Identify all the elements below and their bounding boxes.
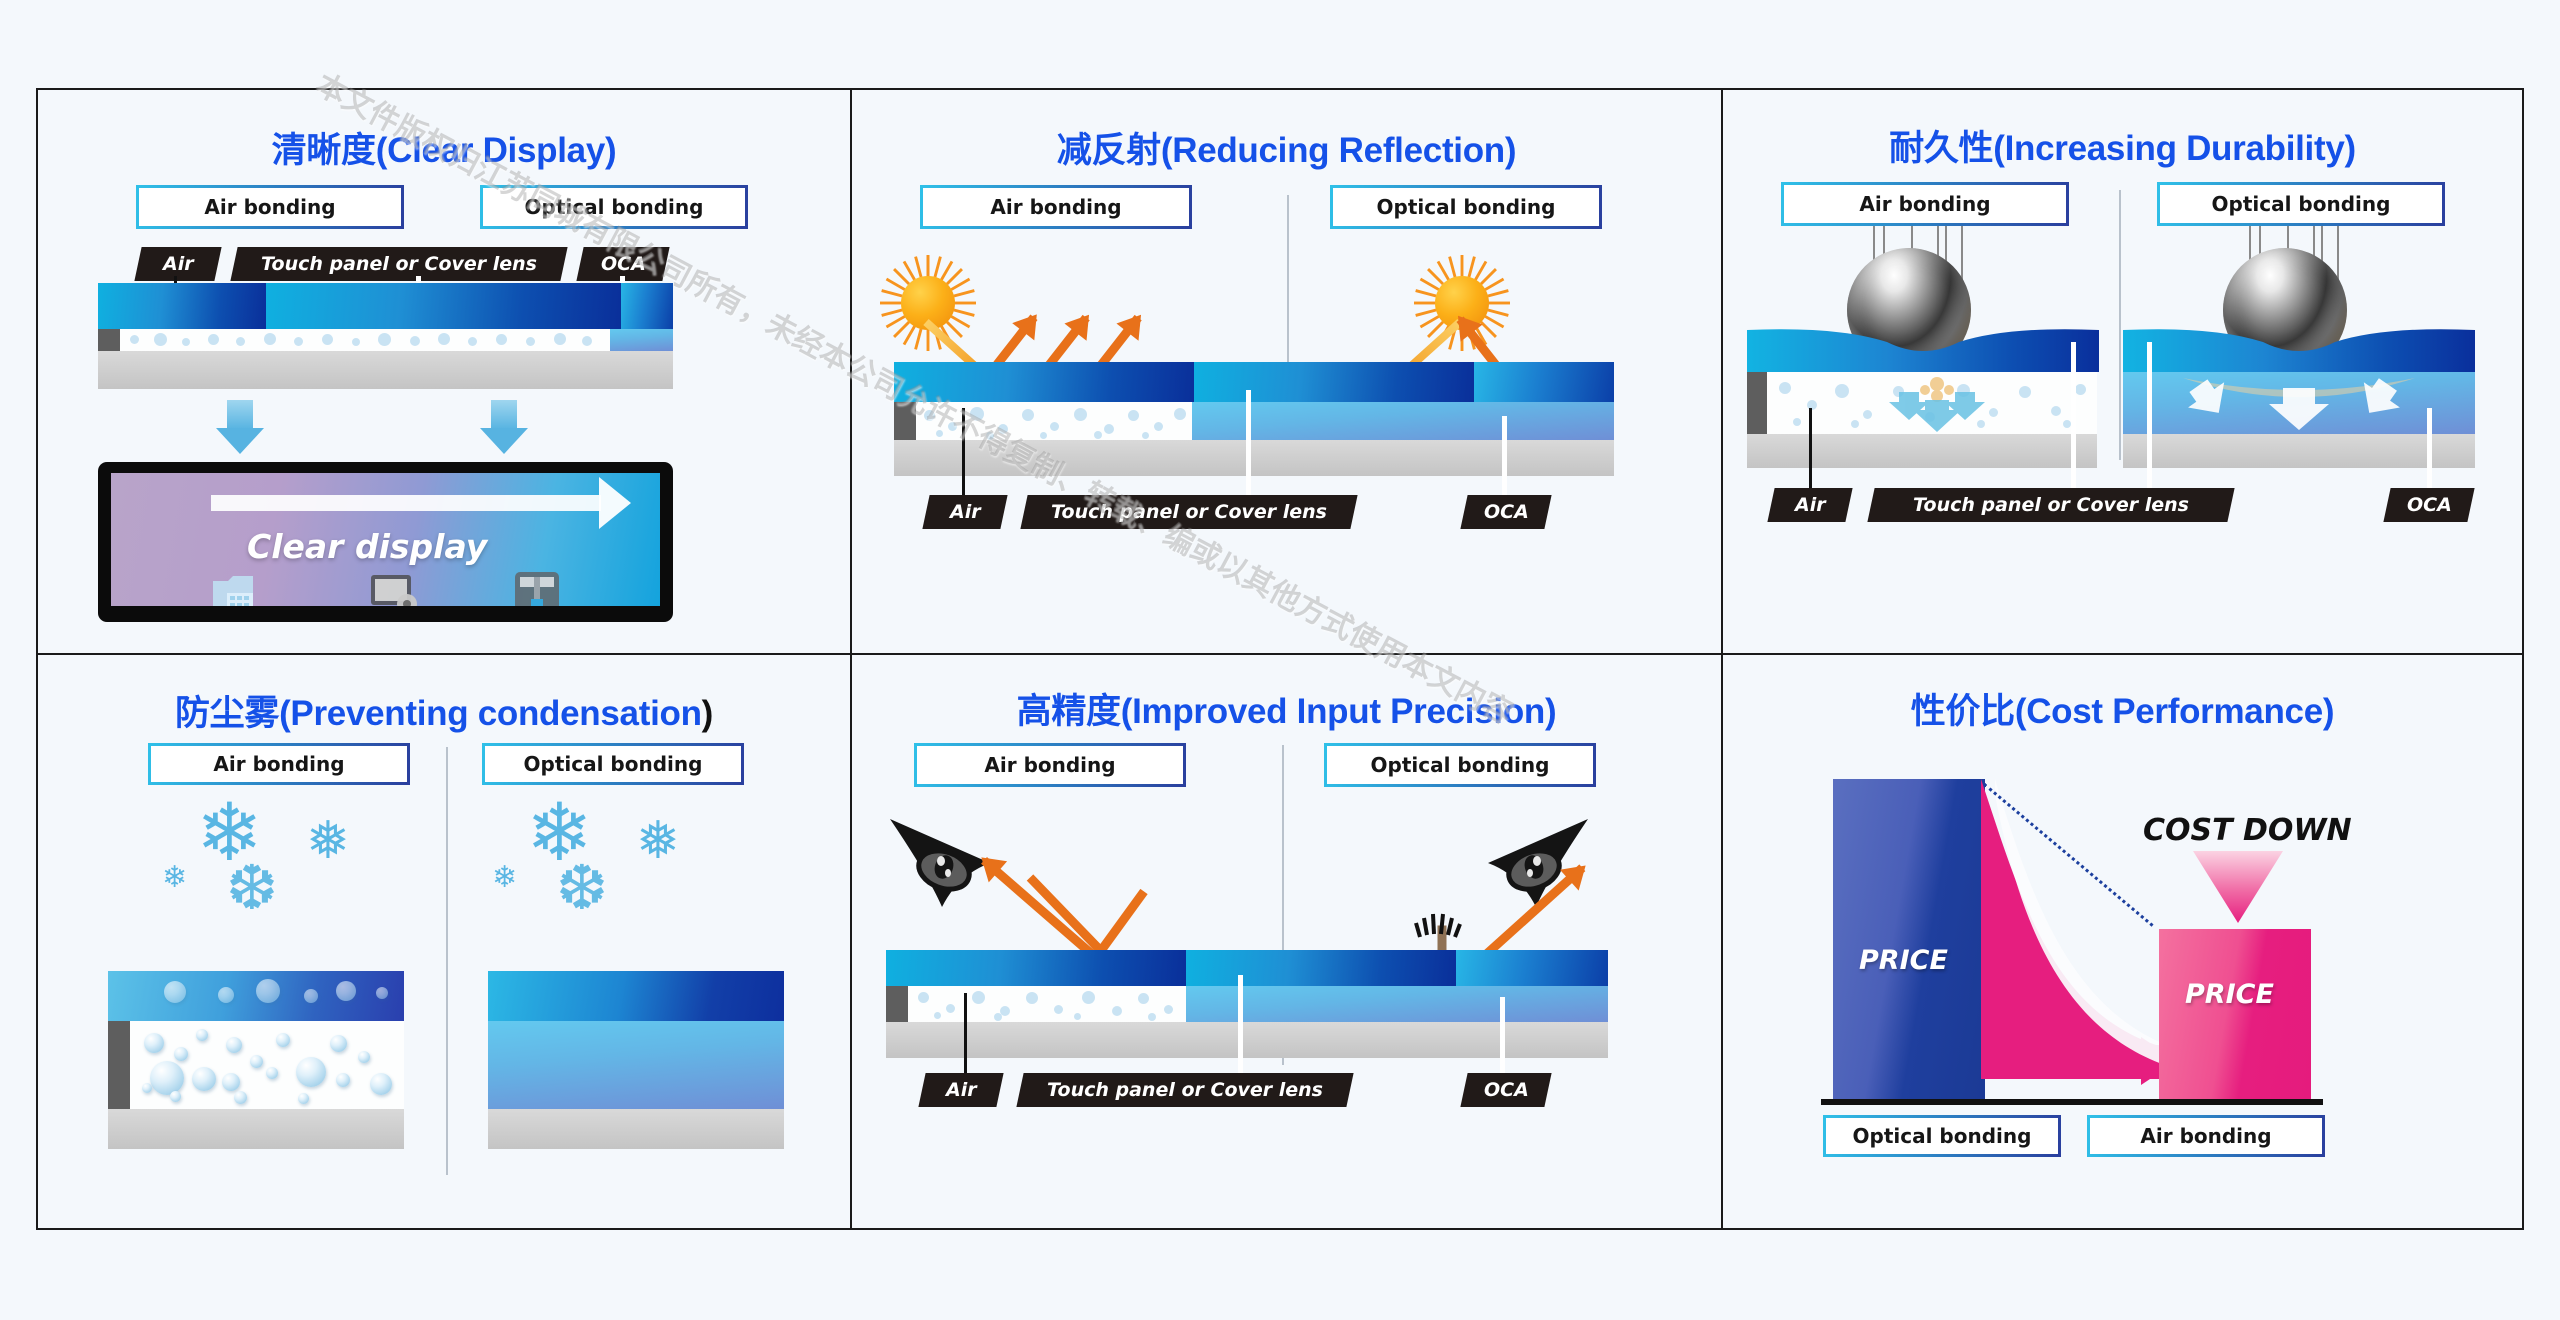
bar-air-bonding <box>2159 929 2311 1099</box>
cover-lens-layer-mid <box>1194 362 1474 402</box>
air-gap-layer <box>908 986 1186 1022</box>
oca-layer <box>488 1021 784 1109</box>
tag-text: OCA <box>1484 501 1529 523</box>
bezel-left <box>1747 372 1767 434</box>
oca-layer <box>1192 402 1614 440</box>
snowflake-icon: ❄ <box>492 863 517 893</box>
panel-title-clear-display: 清晰度(Clear Display) <box>38 122 850 173</box>
tag-text: Touch panel or Cover lens <box>1047 1079 1323 1101</box>
tag-text: Air <box>950 501 981 523</box>
cover-lens-layer-mid <box>1186 950 1456 986</box>
panel-title-cn: 防尘雾 <box>175 694 279 734</box>
panel-increasing-durability: 耐久性(Increasing Durability) Air bonding O… <box>1723 90 2522 655</box>
label-air-bonding: Air bonding <box>136 185 404 229</box>
panel-title-cn: 清晰度 <box>272 131 376 171</box>
cover-lens-layer-mid <box>266 283 621 329</box>
snowflake-icon: ❆ <box>226 857 278 919</box>
oca-layer <box>610 329 673 351</box>
leader-line-oca <box>2427 408 2432 494</box>
label-text: Optical bonding <box>1371 753 1550 777</box>
lcd-layer <box>1747 434 2097 468</box>
label-optical-bonding: Optical bonding <box>1324 743 1596 787</box>
panel-title-cn: 减反射 <box>1057 131 1161 171</box>
snowflake-icon: ❅ <box>636 815 680 867</box>
snowflake-icon: ❅ <box>306 815 350 867</box>
feature-grid: 清晰度(Clear Display) Air bonding Optical b… <box>36 88 2524 1230</box>
snowflake-icon: ❆ <box>556 857 608 919</box>
bar-label-optical: PRICE <box>1859 945 1948 976</box>
label-air-bonding: Air bonding <box>920 185 1192 229</box>
bezel-left <box>886 986 908 1022</box>
down-arrow-right <box>474 400 534 456</box>
label-text: Optical bonding <box>525 195 704 219</box>
air-gap-layer <box>916 402 1192 440</box>
air-gap-layer <box>120 329 610 351</box>
tag-oca: OCA <box>2383 488 2474 522</box>
label-air-bonding: Air bonding <box>1781 182 2069 226</box>
panel-title-cost-performance: 性价比(Cost Performance) <box>1723 683 2522 734</box>
bezel-left <box>98 329 120 351</box>
cover-lens-layer-left <box>108 971 404 1021</box>
leader-line-touch-right <box>2147 342 2152 494</box>
panel-improved-input-precision: 高精度(Improved Input Precision) Air bondin… <box>852 655 1723 1230</box>
tag-text: Touch panel or Cover lens <box>261 253 537 275</box>
panel-title-en: (Cost Performance) <box>2015 692 2334 731</box>
cost-down-arrow-icon <box>2193 851 2283 925</box>
down-arrow-left <box>210 400 270 456</box>
lcd-layer <box>488 1109 784 1149</box>
panel-title-increasing-durability: 耐久性(Increasing Durability) <box>1723 120 2522 171</box>
tag-touch-panel: Touch panel or Cover lens <box>1867 488 2234 522</box>
panel-reducing-reflection: 减反射(Reducing Reflection) Air bonding Opt… <box>852 90 1723 655</box>
panel-title-cn: 性价比 <box>1911 692 2015 732</box>
panel-title-en: (Clear Display) <box>376 131 617 170</box>
panel-title-improved-input-precision: 高精度(Improved Input Precision) <box>852 683 1721 734</box>
leader-line-touch <box>1246 390 1251 502</box>
tag-oca: OCA <box>1460 495 1551 529</box>
panel-title-en: (Improved Input Precision) <box>1121 692 1557 731</box>
cover-lens-layer-left <box>886 950 1186 986</box>
oca-layer <box>2123 372 2475 434</box>
cover-lens-layer-left <box>98 283 266 329</box>
tag-text: Air <box>1795 494 1826 516</box>
tag-text: Touch panel or Cover lens <box>1051 501 1327 523</box>
tag-text: Air <box>163 253 194 275</box>
tag-oca: OCA <box>1460 1073 1551 1107</box>
machine-icon <box>513 570 561 606</box>
cover-lens-layer-right <box>488 971 784 1021</box>
panel-cost-performance: 性价比(Cost Performance) PRICE PRICE COST D… <box>1723 655 2522 1230</box>
label-text: Optical bonding <box>1377 195 1556 219</box>
label-text: Air bonding <box>204 195 335 219</box>
tag-text: OCA <box>1484 1079 1529 1101</box>
folder-icon <box>211 573 257 606</box>
leader-line-air <box>964 993 967 1085</box>
axis-label-air-bonding: Air bonding <box>2087 1115 2325 1157</box>
label-text: Air bonding <box>2140 1124 2271 1148</box>
leader-line-air <box>1809 408 1812 492</box>
tag-text: Air <box>946 1079 977 1101</box>
chart-baseline <box>1821 1099 2323 1105</box>
leader-line-oca <box>1500 997 1505 1083</box>
infographic-page: 清晰度(Clear Display) Air bonding Optical b… <box>0 0 2560 1320</box>
lcd-layer <box>108 1109 404 1149</box>
tag-touch-panel: Touch panel or Cover lens <box>230 247 567 281</box>
panel-title-preventing-condensation: 防尘雾(Preventing condensation) <box>38 685 850 736</box>
panel-title-cn: 耐久性 <box>1889 129 1993 169</box>
label-text: Optical bonding <box>2212 192 2391 216</box>
clarity-arrow <box>211 495 601 511</box>
tag-air: Air <box>134 247 221 281</box>
tag-air: Air <box>918 1073 1003 1107</box>
label-text: Optical bonding <box>1853 1124 2032 1148</box>
touch-point-icon-right <box>1412 905 1468 939</box>
tag-air: Air <box>1767 488 1852 522</box>
panel-title-en: (Increasing Durability) <box>1993 129 2356 168</box>
sun-icon-left <box>880 255 976 351</box>
air-gap-layer <box>1767 372 2097 434</box>
label-text: Air bonding <box>990 195 1121 219</box>
panel-divider <box>2119 190 2121 460</box>
leader-line-oca <box>1502 416 1507 506</box>
tag-text: OCA <box>2407 494 2452 516</box>
tag-touch-panel: Touch panel or Cover lens <box>1020 495 1357 529</box>
display-monitor: Clear display <box>98 462 673 622</box>
label-text: Optical bonding <box>524 752 703 776</box>
label-text: Air bonding <box>213 752 344 776</box>
panel-title-en: (Reducing Reflection) <box>1161 131 1516 170</box>
lcd-layer <box>98 351 673 389</box>
monitor-screen: Clear display <box>111 473 660 606</box>
condensation-layer <box>130 1021 404 1109</box>
panel-title-en: (Preventing condensation <box>279 694 702 733</box>
tag-air: Air <box>922 495 1007 529</box>
leader-line-touch <box>1238 975 1243 1083</box>
clear-display-text: Clear display <box>247 527 487 566</box>
panel-title-cn: 高精度 <box>1017 692 1121 732</box>
label-optical-bonding: Optical bonding <box>480 185 748 229</box>
tag-touch-panel: Touch panel or Cover lens <box>1016 1073 1353 1107</box>
cover-lens-layer-right <box>1456 950 1608 986</box>
leader-line-air <box>962 408 965 504</box>
bezel-left <box>108 1021 130 1109</box>
axis-label-optical-bonding: Optical bonding <box>1823 1115 2061 1157</box>
label-air-bonding: Air bonding <box>914 743 1186 787</box>
bezel-left <box>894 402 916 440</box>
cover-lens-layer-left-dented <box>1747 326 2099 378</box>
bar-optical-bonding <box>1833 779 1985 1099</box>
panel-title-tail: ) <box>702 694 713 733</box>
label-text: Air bonding <box>1859 192 1990 216</box>
panel-preventing-condensation: 防尘雾(Preventing condensation) Air bonding… <box>38 655 852 1230</box>
panel-title-reducing-reflection: 减反射(Reducing Reflection) <box>852 122 1721 173</box>
label-optical-bonding: Optical bonding <box>1330 185 1602 229</box>
monitor-gear-icon <box>369 573 421 606</box>
bar-label-air: PRICE <box>2185 979 2274 1010</box>
label-optical-bonding: Optical bonding <box>2157 182 2445 226</box>
reflection-arrow-1 <box>993 314 1037 367</box>
cover-lens-layer-left <box>894 362 1194 402</box>
cover-lens-layer-right-dented <box>2123 326 2475 378</box>
cover-lens-layer-right <box>1474 362 1614 402</box>
panel-divider <box>446 747 448 1175</box>
tag-text: Touch panel or Cover lens <box>1913 494 2189 516</box>
lcd-layer <box>2123 434 2475 468</box>
oca-layer <box>1186 986 1608 1022</box>
panel-clear-display: 清晰度(Clear Display) Air bonding Optical b… <box>38 90 852 655</box>
snowflake-icon: ❄ <box>162 863 187 893</box>
label-text: Air bonding <box>984 753 1115 777</box>
label-air-bonding: Air bonding <box>148 743 410 785</box>
cost-down-label: COST DOWN <box>2143 813 2352 848</box>
leader-line-touch-left <box>2071 342 2076 494</box>
cover-lens-layer-right <box>621 283 673 329</box>
label-optical-bonding: Optical bonding <box>482 743 744 785</box>
tag-text: OCA <box>601 253 646 275</box>
